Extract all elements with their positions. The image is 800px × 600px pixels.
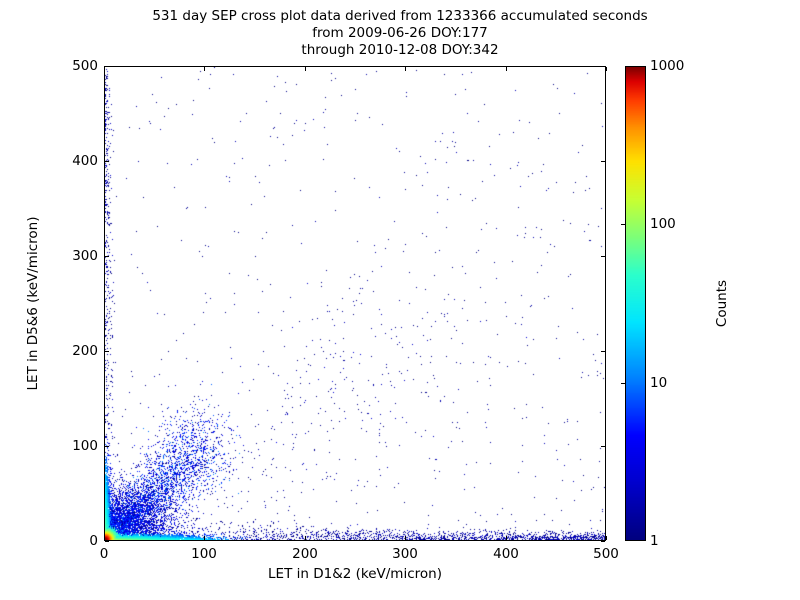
x-tick-label: 300 [392, 546, 418, 562]
x-tick-label: 500 [593, 546, 619, 562]
colorbar-tick-mark [621, 383, 625, 384]
y-tick-label: 400 [50, 153, 98, 169]
y-tick-label: 500 [50, 58, 98, 74]
y-axis-label: LET in D5&6 (keV/micron) [22, 66, 44, 541]
title-line-1: 531 day SEP cross plot data derived from… [0, 8, 800, 25]
figure-canvas: 531 day SEP cross plot data derived from… [0, 0, 800, 600]
y-tick-mark-right [601, 446, 605, 447]
x-tick-label: 0 [100, 546, 109, 562]
plot-axes-frame [104, 66, 606, 541]
title-line-3: through 2010-12-08 DOY:342 [0, 42, 800, 59]
x-tick-mark-top [305, 67, 306, 71]
y-tick-label: 200 [50, 343, 98, 359]
x-tick-mark [204, 536, 205, 540]
colorbar-tick-label: 1 [650, 533, 659, 549]
y-tick-mark [105, 351, 109, 352]
y-tick-label: 100 [50, 438, 98, 454]
y-tick-mark-right [601, 161, 605, 162]
x-tick-label: 100 [191, 546, 217, 562]
y-tick-mark [105, 541, 109, 542]
colorbar-label: Counts [712, 66, 732, 541]
x-tick-mark-top [104, 67, 105, 71]
colorbar [625, 66, 646, 541]
x-tick-mark [606, 536, 607, 540]
y-tick-label: 300 [50, 248, 98, 264]
colorbar-tick-label: 10 [650, 375, 667, 391]
y-tick-mark [105, 66, 109, 67]
x-tick-mark [405, 536, 406, 540]
title-line-2: from 2009-06-26 DOY:177 [0, 25, 800, 42]
x-tick-label: 400 [493, 546, 519, 562]
y-tick-mark [105, 256, 109, 257]
colorbar-gradient [626, 67, 645, 540]
x-tick-mark-top [405, 67, 406, 71]
x-tick-mark [305, 536, 306, 540]
y-tick-mark [105, 161, 109, 162]
colorbar-tick-label: 1000 [650, 58, 684, 74]
x-tick-mark-top [606, 67, 607, 71]
x-tick-label: 200 [292, 546, 318, 562]
y-tick-label: 0 [50, 533, 98, 549]
x-tick-mark [104, 536, 105, 540]
colorbar-tick-label: 100 [650, 216, 676, 232]
x-tick-mark-top [204, 67, 205, 71]
y-tick-mark-right [601, 351, 605, 352]
y-tick-mark-right [601, 66, 605, 67]
plot-title: 531 day SEP cross plot data derived from… [0, 8, 800, 59]
y-tick-mark-right [601, 256, 605, 257]
scatter-density-plot [105, 67, 605, 540]
colorbar-tick-mark [621, 224, 625, 225]
y-tick-mark [105, 446, 109, 447]
x-axis-label: LET in D1&2 (keV/micron) [104, 566, 606, 582]
x-tick-mark-top [506, 67, 507, 71]
y-tick-mark-right [601, 541, 605, 542]
x-tick-mark [506, 536, 507, 540]
